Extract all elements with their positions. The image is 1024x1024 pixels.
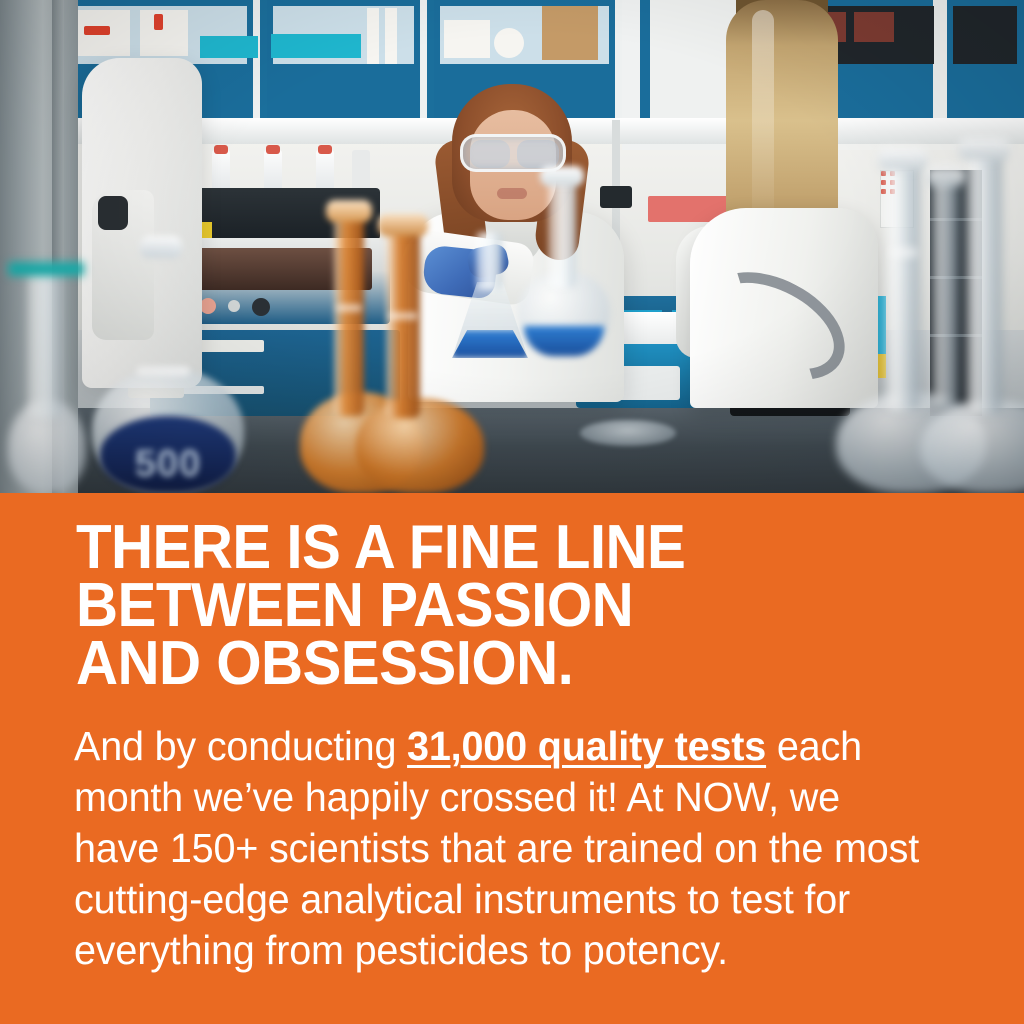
shelf-box-teal bbox=[200, 36, 258, 58]
amber-flask-lip bbox=[326, 200, 372, 222]
shelf-bottle bbox=[367, 8, 379, 64]
headline: THERE IS A FINE LINE BETWEEN PASSION AND… bbox=[76, 519, 922, 693]
flask-volume-label: 500 bbox=[114, 444, 222, 484]
amber-flask-lip bbox=[378, 214, 428, 236]
shelf-box-teal bbox=[271, 34, 361, 58]
shelf-box bbox=[444, 20, 490, 58]
round-flask-lip bbox=[540, 166, 584, 186]
cabinet-bay bbox=[947, 0, 1024, 118]
orange-message-panel: THERE IS A FINE LINE BETWEEN PASSION AND… bbox=[0, 493, 1024, 1024]
laboratory-photo: 500 bbox=[0, 0, 1024, 493]
stand-clamp bbox=[600, 186, 632, 208]
shelf-box-maroon bbox=[854, 12, 894, 42]
volumetric-flask-lip bbox=[926, 166, 966, 186]
shelf-dark-void bbox=[953, 6, 1017, 64]
amber-flask-bulb bbox=[356, 398, 484, 493]
volumetric-flask-neck bbox=[886, 160, 920, 410]
volumetric-flask-neck bbox=[932, 178, 958, 404]
volumetric-flask-neck bbox=[966, 150, 1002, 414]
instrument-knob bbox=[228, 300, 240, 312]
body-lead: And by conducting bbox=[74, 723, 407, 769]
volumetric-flask-lip bbox=[878, 148, 928, 170]
hair-highlight bbox=[752, 10, 774, 235]
teal-cap bbox=[8, 262, 84, 276]
flask-graduation-ring bbox=[890, 248, 918, 257]
shelf-carton bbox=[542, 6, 598, 60]
flask-graduation-ring bbox=[136, 366, 190, 376]
shelf-box-label bbox=[84, 26, 110, 35]
shelf-box-label bbox=[154, 14, 163, 30]
amber-flask-neck bbox=[386, 226, 420, 418]
quality-tests-highlight: 31,000 quality tests bbox=[407, 723, 766, 769]
erlenmeyer-neck bbox=[476, 232, 502, 290]
volumetric-flask-500-lip bbox=[140, 236, 182, 258]
amber-flask-neck bbox=[334, 212, 364, 416]
watch-glass bbox=[580, 420, 676, 446]
shelf-bottle bbox=[385, 8, 397, 64]
body-copy: And by conducting 31,000 quality tests e… bbox=[74, 721, 923, 976]
instrument-knob bbox=[252, 298, 270, 316]
shelf-bowl bbox=[494, 28, 524, 58]
flask-graduation-ring bbox=[388, 312, 418, 320]
cabinet-bay bbox=[267, 0, 427, 118]
round-flask-neck bbox=[548, 176, 576, 288]
scientist-left-hand bbox=[98, 196, 128, 230]
instrument-knob bbox=[200, 298, 216, 314]
social-card: 500 THERE IS A FINE LINE BETWEEN PASSION… bbox=[0, 0, 1024, 1024]
teal-flask-neck bbox=[28, 268, 62, 418]
flask-graduation-ring bbox=[336, 304, 362, 312]
shelf-box bbox=[140, 10, 188, 56]
volumetric-flask-500-neck bbox=[148, 246, 174, 406]
volumetric-flask-lip bbox=[958, 138, 1010, 160]
scientist-center-mouth bbox=[497, 188, 527, 199]
